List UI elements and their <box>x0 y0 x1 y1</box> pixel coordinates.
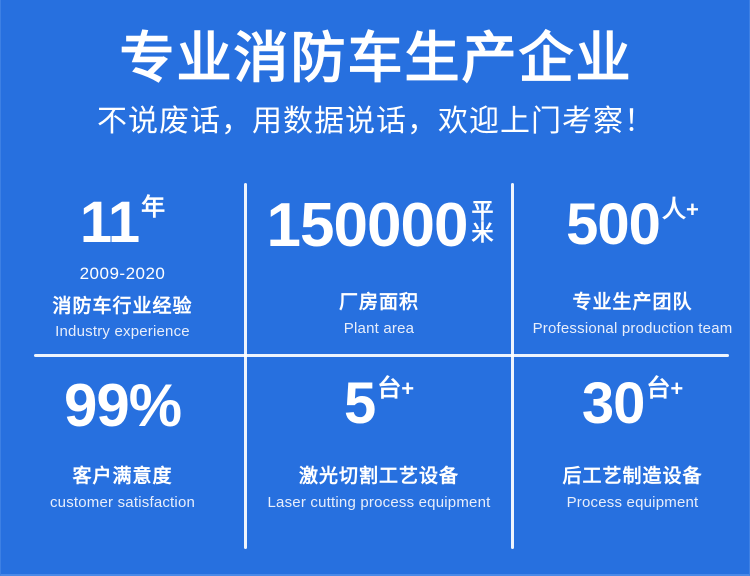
stats-grid: 11 年 2009-2020 消防车行业经验 Industry experien… <box>1 183 750 549</box>
stat-unit: 台+ <box>646 377 683 401</box>
stat-number: 30 <box>582 375 645 433</box>
stat-label-en: Laser cutting process equipment <box>247 494 511 511</box>
page-subtitle: 不说废话，用数据说话，欢迎上门考察！ <box>1 103 750 141</box>
promo-banner: 专业消防车生产企业 不说废话，用数据说话，欢迎上门考察！ 11 年 2009-2… <box>0 0 750 576</box>
stat-cell-industry-experience: 11 年 2009-2020 消防车行业经验 Industry experien… <box>1 183 244 354</box>
stat-label-cn: 客户满意度 <box>1 461 244 488</box>
stat-number: 5 <box>344 375 375 433</box>
stat-unit-text: 台 <box>646 375 670 402</box>
stat-number-row: 30 台+ <box>514 375 750 433</box>
stat-label-cn: 消防车行业经验 <box>1 291 244 318</box>
stat-unit-text: 台 <box>377 375 401 402</box>
stat-unit-text: 人 <box>662 196 686 223</box>
stat-label-cn: 厂房面积 <box>247 287 511 314</box>
stat-number: 99% <box>64 376 181 436</box>
stat-label-en: Industry experience <box>1 323 244 340</box>
stat-number: 11 <box>80 194 139 252</box>
stat-unit-plus: + <box>686 197 699 222</box>
stat-unit: 平米 <box>469 195 491 247</box>
stat-unit: 年 <box>141 196 165 220</box>
stat-label-cn: 专业生产团队 <box>514 287 750 314</box>
page-title: 专业消防车生产企业 <box>1 26 750 90</box>
stat-unit: 台+ <box>377 377 414 401</box>
stat-number: 500 <box>566 196 660 254</box>
stat-label-cn: 激光切割工艺设备 <box>247 461 511 488</box>
stat-unit: 人+ <box>662 198 699 222</box>
stat-label-en: Professional production team <box>514 320 750 337</box>
stat-unit-plus: + <box>401 376 414 401</box>
stat-number-row: 99% <box>1 376 244 436</box>
stat-number-row: 500 人+ <box>514 196 750 254</box>
stat-year-range: 2009-2020 <box>1 264 244 284</box>
stat-label-en: customer satisfaction <box>1 494 244 511</box>
stat-label-en: Plant area <box>247 320 511 337</box>
stat-number: 150000 <box>267 195 468 257</box>
stat-label-en: Process equipment <box>514 494 750 511</box>
stat-cell-plant-area: 150000 平米 厂房面积 Plant area <box>247 183 511 354</box>
stat-label-cn: 后工艺制造设备 <box>514 461 750 488</box>
stat-cell-process-equipment: 30 台+ 后工艺制造设备 Process equipment <box>514 357 750 549</box>
stat-cell-customer-satisfaction: 99% 客户满意度 customer satisfaction <box>1 357 244 549</box>
stat-unit-plus: + <box>670 376 683 401</box>
stat-number-row: 5 台+ <box>247 375 511 433</box>
stat-cell-laser-cutting-equipment: 5 台+ 激光切割工艺设备 Laser cutting process equi… <box>247 357 511 549</box>
banner-header: 专业消防车生产企业 不说废话，用数据说话，欢迎上门考察！ <box>1 26 750 141</box>
stat-number-row: 150000 平米 <box>247 195 511 257</box>
stat-number-row: 11 年 <box>1 194 244 252</box>
stat-cell-production-team: 500 人+ 专业生产团队 Professional production te… <box>514 183 750 354</box>
